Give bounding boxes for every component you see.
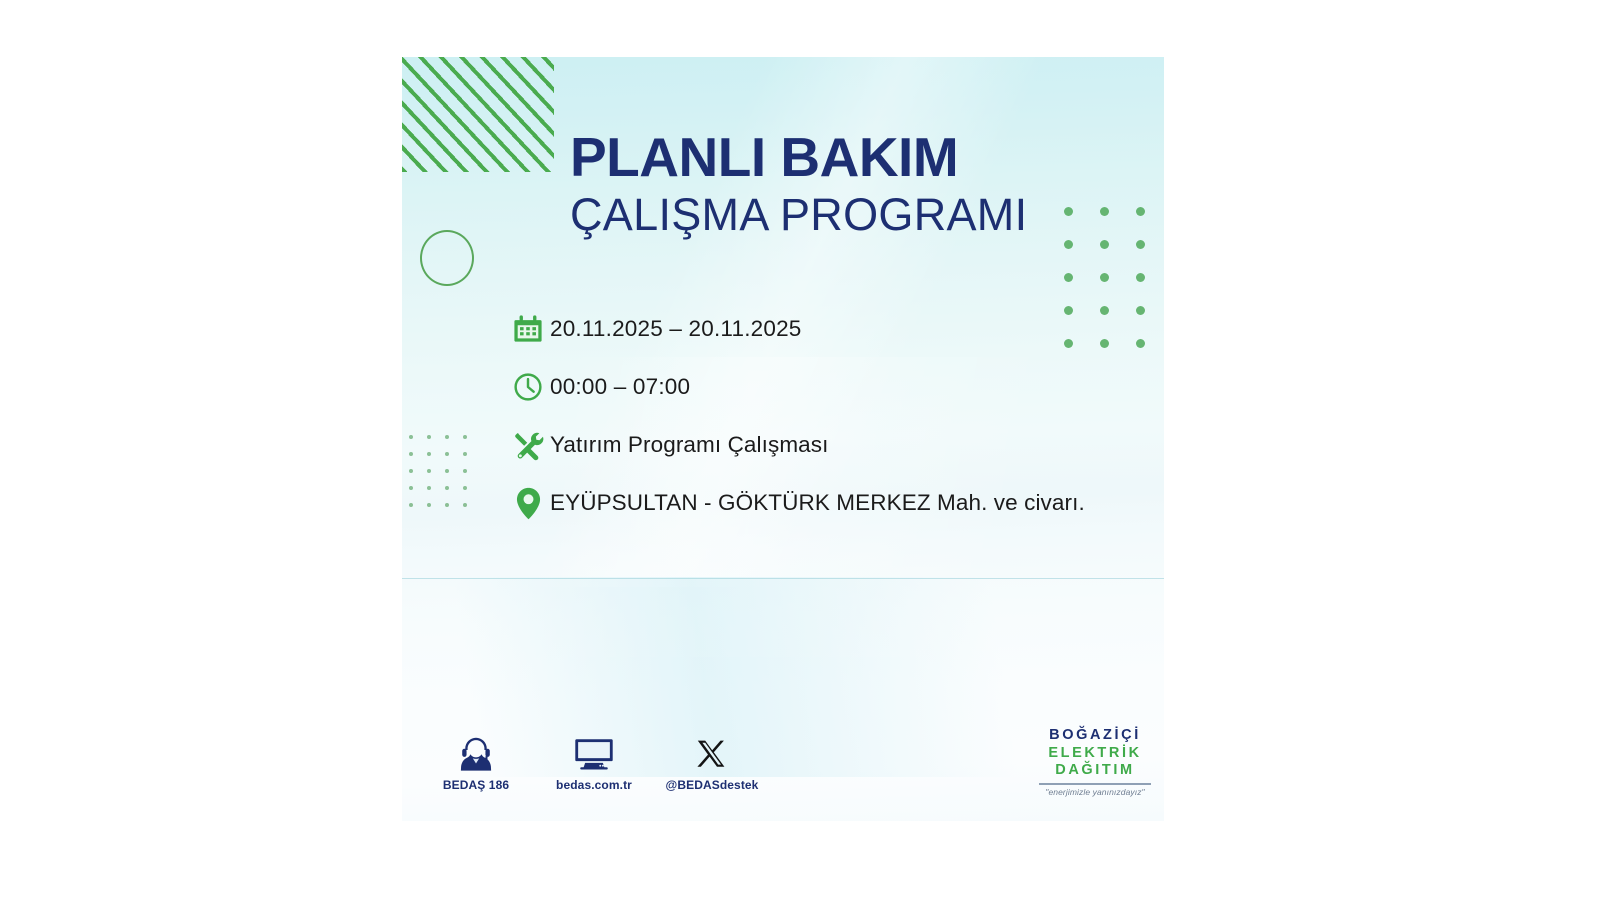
calendar-icon [506, 314, 550, 344]
contact-label-website: bedas.com.tr [556, 778, 632, 792]
footer-contacts: BEDAŞ 186 bedas.com.t [432, 729, 756, 792]
bedas-logo: BOĞAZİÇİ ELEKTRİK DAĞITIM "enerjimizle y… [1036, 727, 1154, 797]
brand-line-elektrik: ELEKTRİK [1036, 745, 1154, 763]
circle-outline-decoration [420, 230, 474, 286]
dot-grid-left-decoration [409, 435, 481, 520]
detail-text-work-type: Yatırım Programı Çalışması [550, 432, 829, 458]
contact-call-center[interactable]: BEDAŞ 186 [432, 729, 520, 792]
page-canvas: PLANLI BAKIM ÇALIŞMA PROGRAMI [0, 0, 1600, 900]
detail-text-time: 00:00 – 07:00 [550, 374, 690, 400]
headset-support-icon [457, 729, 495, 771]
title-secondary: ÇALIŞMA PROGRAMI [570, 191, 1140, 238]
monitor-icon [574, 729, 614, 771]
brand-line-bogazici: BOĞAZİÇİ [1036, 727, 1154, 745]
tools-icon [506, 430, 550, 461]
location-pin-icon [506, 487, 550, 520]
planned-maintenance-card: PLANLI BAKIM ÇALIŞMA PROGRAMI [402, 57, 1164, 821]
detail-row-location: EYÜPSULTAN - GÖKTÜRK MERKEZ Mah. ve civa… [506, 474, 1136, 532]
detail-row-date: 20.11.2025 – 20.11.2025 [506, 300, 1136, 358]
contact-website[interactable]: bedas.com.tr [550, 729, 638, 792]
contact-label-call-center: BEDAŞ 186 [443, 778, 509, 792]
horizontal-divider [402, 578, 1164, 579]
page-title: PLANLI BAKIM ÇALIŞMA PROGRAMI [570, 130, 1140, 238]
brand-underline [1039, 783, 1151, 785]
contact-label-x-account: @BEDASdestek [666, 778, 759, 792]
x-twitter-icon [696, 729, 728, 771]
detail-text-date: 20.11.2025 – 20.11.2025 [550, 316, 802, 342]
title-primary: PLANLI BAKIM [570, 130, 1140, 185]
maintenance-details-list: 20.11.2025 – 20.11.2025 00:00 – 07:00 [506, 300, 1136, 532]
brand-line-dagitim: DAĞITIM [1036, 762, 1154, 780]
brand-tagline: "enerjimizle yanınızdayız" [1036, 787, 1154, 797]
contact-x-account[interactable]: @BEDASdestek [668, 729, 756, 792]
detail-row-time: 00:00 – 07:00 [506, 358, 1136, 416]
detail-row-work-type: Yatırım Programı Çalışması [506, 416, 1136, 474]
clock-icon [506, 372, 550, 402]
detail-text-location: EYÜPSULTAN - GÖKTÜRK MERKEZ Mah. ve civa… [550, 490, 1085, 516]
diagonal-stripes-decoration [402, 57, 554, 172]
